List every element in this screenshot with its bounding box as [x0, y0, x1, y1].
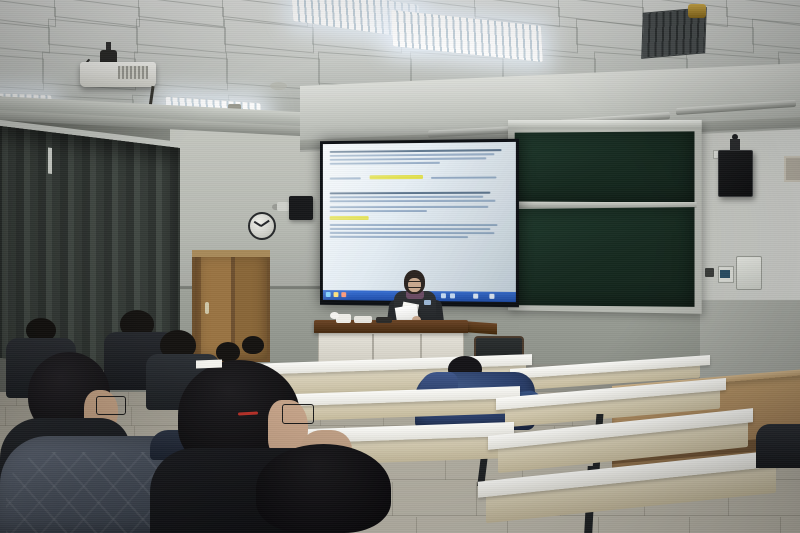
student-back-row-head-2	[242, 336, 264, 354]
blackboard-top-rail	[508, 120, 702, 129]
presenter-glasses-icon	[407, 281, 424, 288]
lectern-item-remote[interactable]	[376, 317, 392, 323]
ceiling-tile	[0, 51, 44, 90]
security-camera-icon	[277, 202, 289, 211]
gold-ceiling-fitting-icon	[688, 4, 706, 18]
student-right-edge	[756, 424, 800, 468]
taskbar-icon-2[interactable]	[341, 292, 346, 297]
student-foreground-left-glasses-icon	[96, 396, 126, 415]
wall-mounted-unit	[289, 196, 313, 220]
taskbar-tray-icon-3[interactable]	[473, 294, 478, 299]
blackboard-panel-lower[interactable]	[513, 207, 695, 307]
door-transom	[192, 250, 270, 257]
small-display-screen	[720, 270, 730, 278]
floor-tile	[780, 517, 800, 533]
clock-minute-hand	[260, 220, 269, 227]
presenter-badge	[424, 300, 431, 305]
taskbar-tray-icon-1[interactable]	[441, 293, 446, 298]
wall-clock	[248, 212, 276, 240]
wall-speaker-icon	[718, 150, 753, 197]
taskbar-icon-1[interactable]	[334, 292, 339, 297]
lectern-item-cup[interactable]	[330, 312, 339, 319]
slide-block-3	[330, 206, 509, 212]
door-handle-icon[interactable]	[205, 302, 209, 314]
classroom-scene	[0, 0, 800, 533]
student-front-center-head	[256, 444, 391, 533]
wall-plaque	[784, 156, 800, 182]
floor-tile	[689, 517, 781, 533]
control-panel[interactable]	[736, 256, 762, 290]
floor-tile	[392, 482, 477, 516]
desk-paper[interactable]	[196, 360, 222, 369]
slide-block-highlight-2	[330, 216, 509, 220]
blackboard-panel-upper[interactable]	[515, 131, 695, 202]
slide-block-1	[330, 149, 509, 165]
student-foreground-center-glasses-icon	[282, 404, 314, 424]
lectern-item-notepad[interactable]	[354, 316, 372, 323]
projector-vent-icon	[118, 66, 148, 79]
smoke-detector-icon	[270, 82, 287, 90]
taskbar-start-icon[interactable]	[326, 292, 331, 297]
floor-tile	[598, 517, 690, 533]
taskbar-clock-icon[interactable]	[489, 294, 494, 299]
slide-block-4	[330, 224, 509, 238]
slide-block-highlight-1	[330, 167, 509, 186]
taskbar-tray-icon-2[interactable]	[450, 293, 455, 298]
curtain-hook-icon	[48, 148, 52, 174]
slide-block-2	[330, 192, 509, 203]
wall-socket-icon	[705, 268, 714, 277]
